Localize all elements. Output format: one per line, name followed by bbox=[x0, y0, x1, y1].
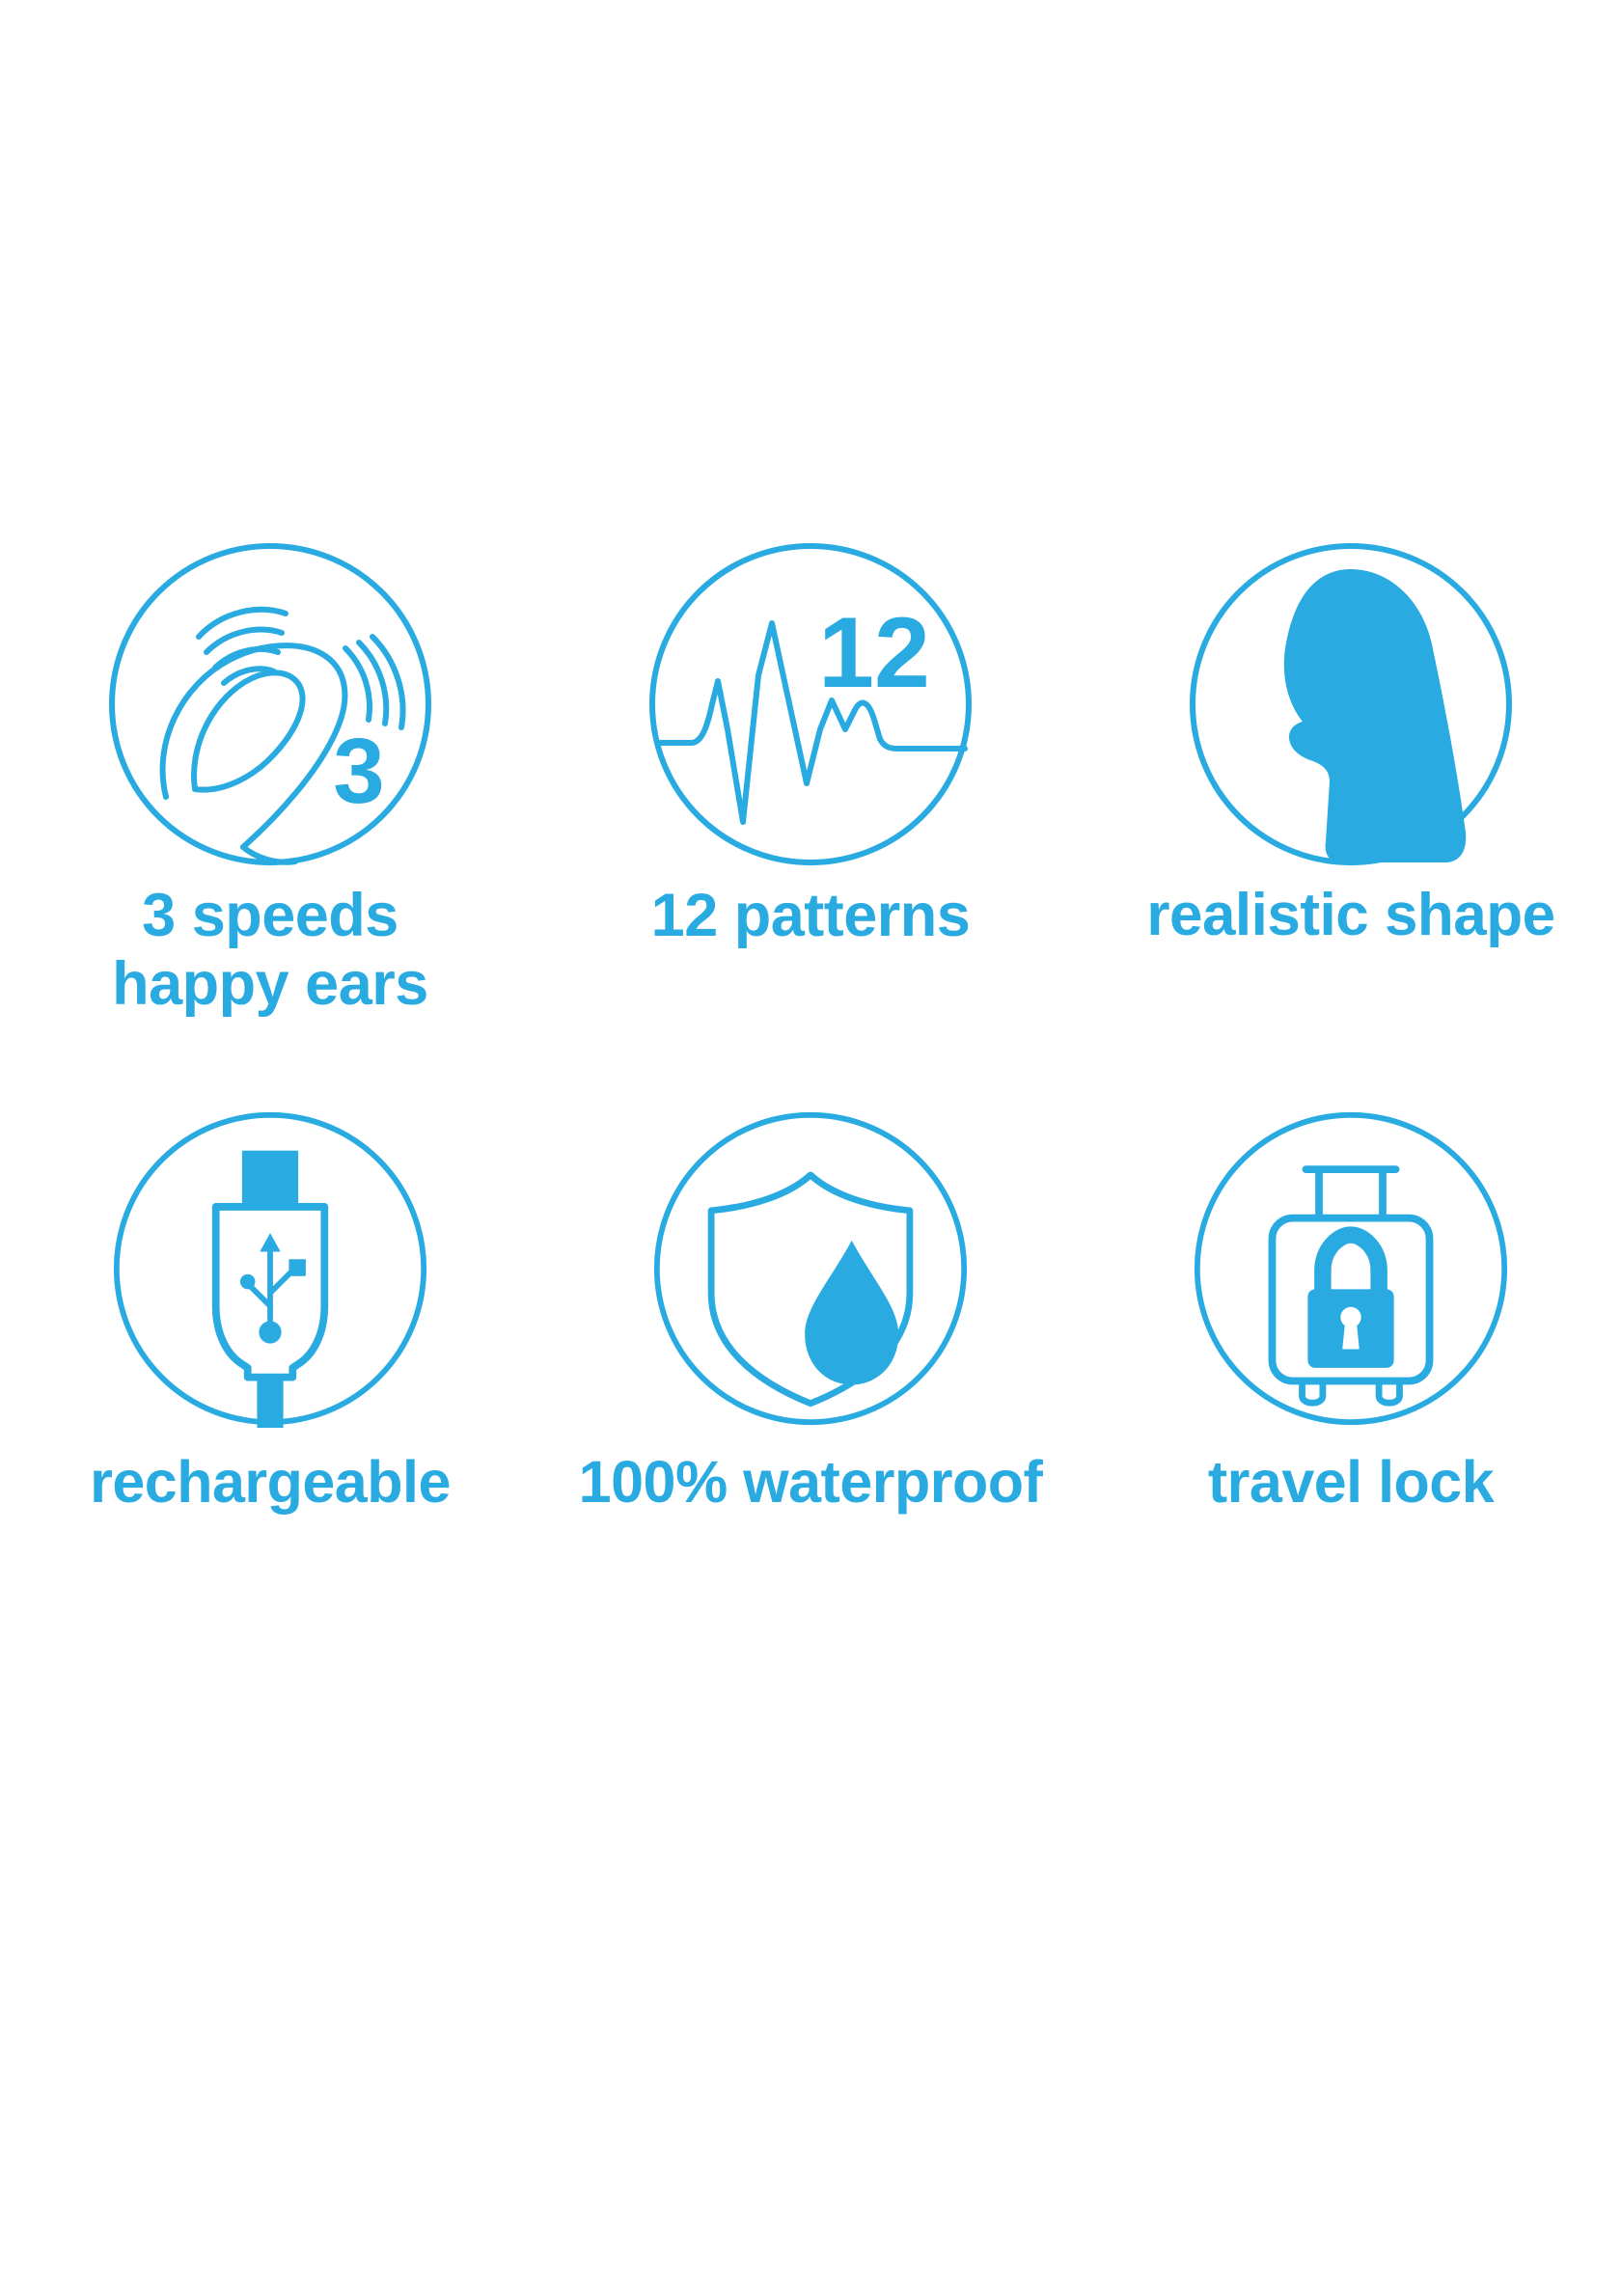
speed-count-badge: 3 bbox=[333, 720, 384, 823]
feature-label-travel-lock: travel lock bbox=[1208, 1449, 1494, 1515]
feature-label-waterproof: 100% waterproof bbox=[579, 1449, 1043, 1515]
feature-item-travel-lock: travel lock bbox=[1081, 1109, 1621, 1515]
feature-label-rechargeable: rechargeable bbox=[90, 1449, 451, 1515]
feature-label-shape: realistic shape bbox=[1146, 882, 1554, 948]
finger-vibration-icon: 3 bbox=[106, 540, 434, 868]
feature-item-patterns: 12 12 patterns bbox=[540, 540, 1081, 950]
feature-item-shape: realistic shape bbox=[1081, 540, 1621, 948]
shield-waterdrop-icon bbox=[651, 1109, 970, 1428]
feature-label-patterns: 12 patterns bbox=[651, 882, 971, 950]
feature-item-waterproof: 100% waterproof bbox=[540, 1109, 1081, 1515]
feature-label-speeds: 3 speeds happy ears bbox=[112, 882, 428, 1018]
feature-item-rechargeable: rechargeable bbox=[0, 1109, 540, 1515]
waveform-icon: 12 bbox=[646, 540, 975, 868]
usb-plug-icon bbox=[111, 1109, 429, 1428]
pattern-count-badge: 12 bbox=[818, 597, 930, 709]
suitcase-padlock-icon bbox=[1192, 1109, 1510, 1428]
feature-item-speeds: 3 3 speeds happy ears bbox=[0, 540, 540, 1018]
feature-grid: 3 3 speeds happy ears 12 12 patterns bbox=[0, 540, 1621, 1679]
realistic-shape-silhouette-icon bbox=[1187, 540, 1515, 868]
feature-infographic: 3 3 speeds happy ears 12 12 patterns bbox=[0, 0, 1621, 2296]
